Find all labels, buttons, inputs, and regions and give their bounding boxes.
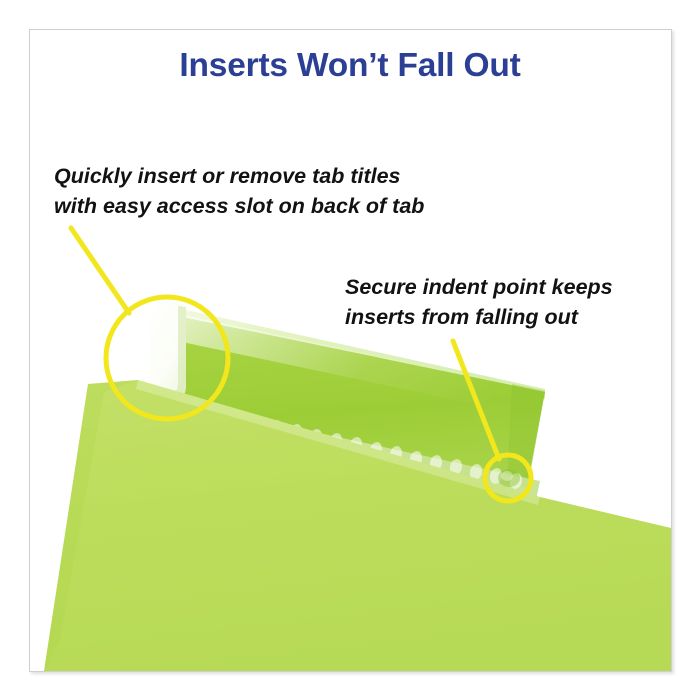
callout-left-line2: with easy access slot on back of tab — [54, 192, 424, 222]
product-feature-graphic: Inserts Won’t Fall Out Quickly insert or… — [0, 0, 700, 700]
callout-right-line1: Secure indent point keeps — [345, 273, 613, 303]
callout-insert-remove: Quickly insert or remove tab titles with… — [54, 162, 424, 221]
photo-frame — [29, 29, 672, 672]
callout-right-line2: inserts from falling out — [345, 303, 613, 333]
callout-secure-indent: Secure indent point keeps inserts from f… — [345, 273, 613, 332]
page-title: Inserts Won’t Fall Out — [0, 47, 700, 86]
callout-left-line1: Quickly insert or remove tab titles — [54, 162, 424, 192]
